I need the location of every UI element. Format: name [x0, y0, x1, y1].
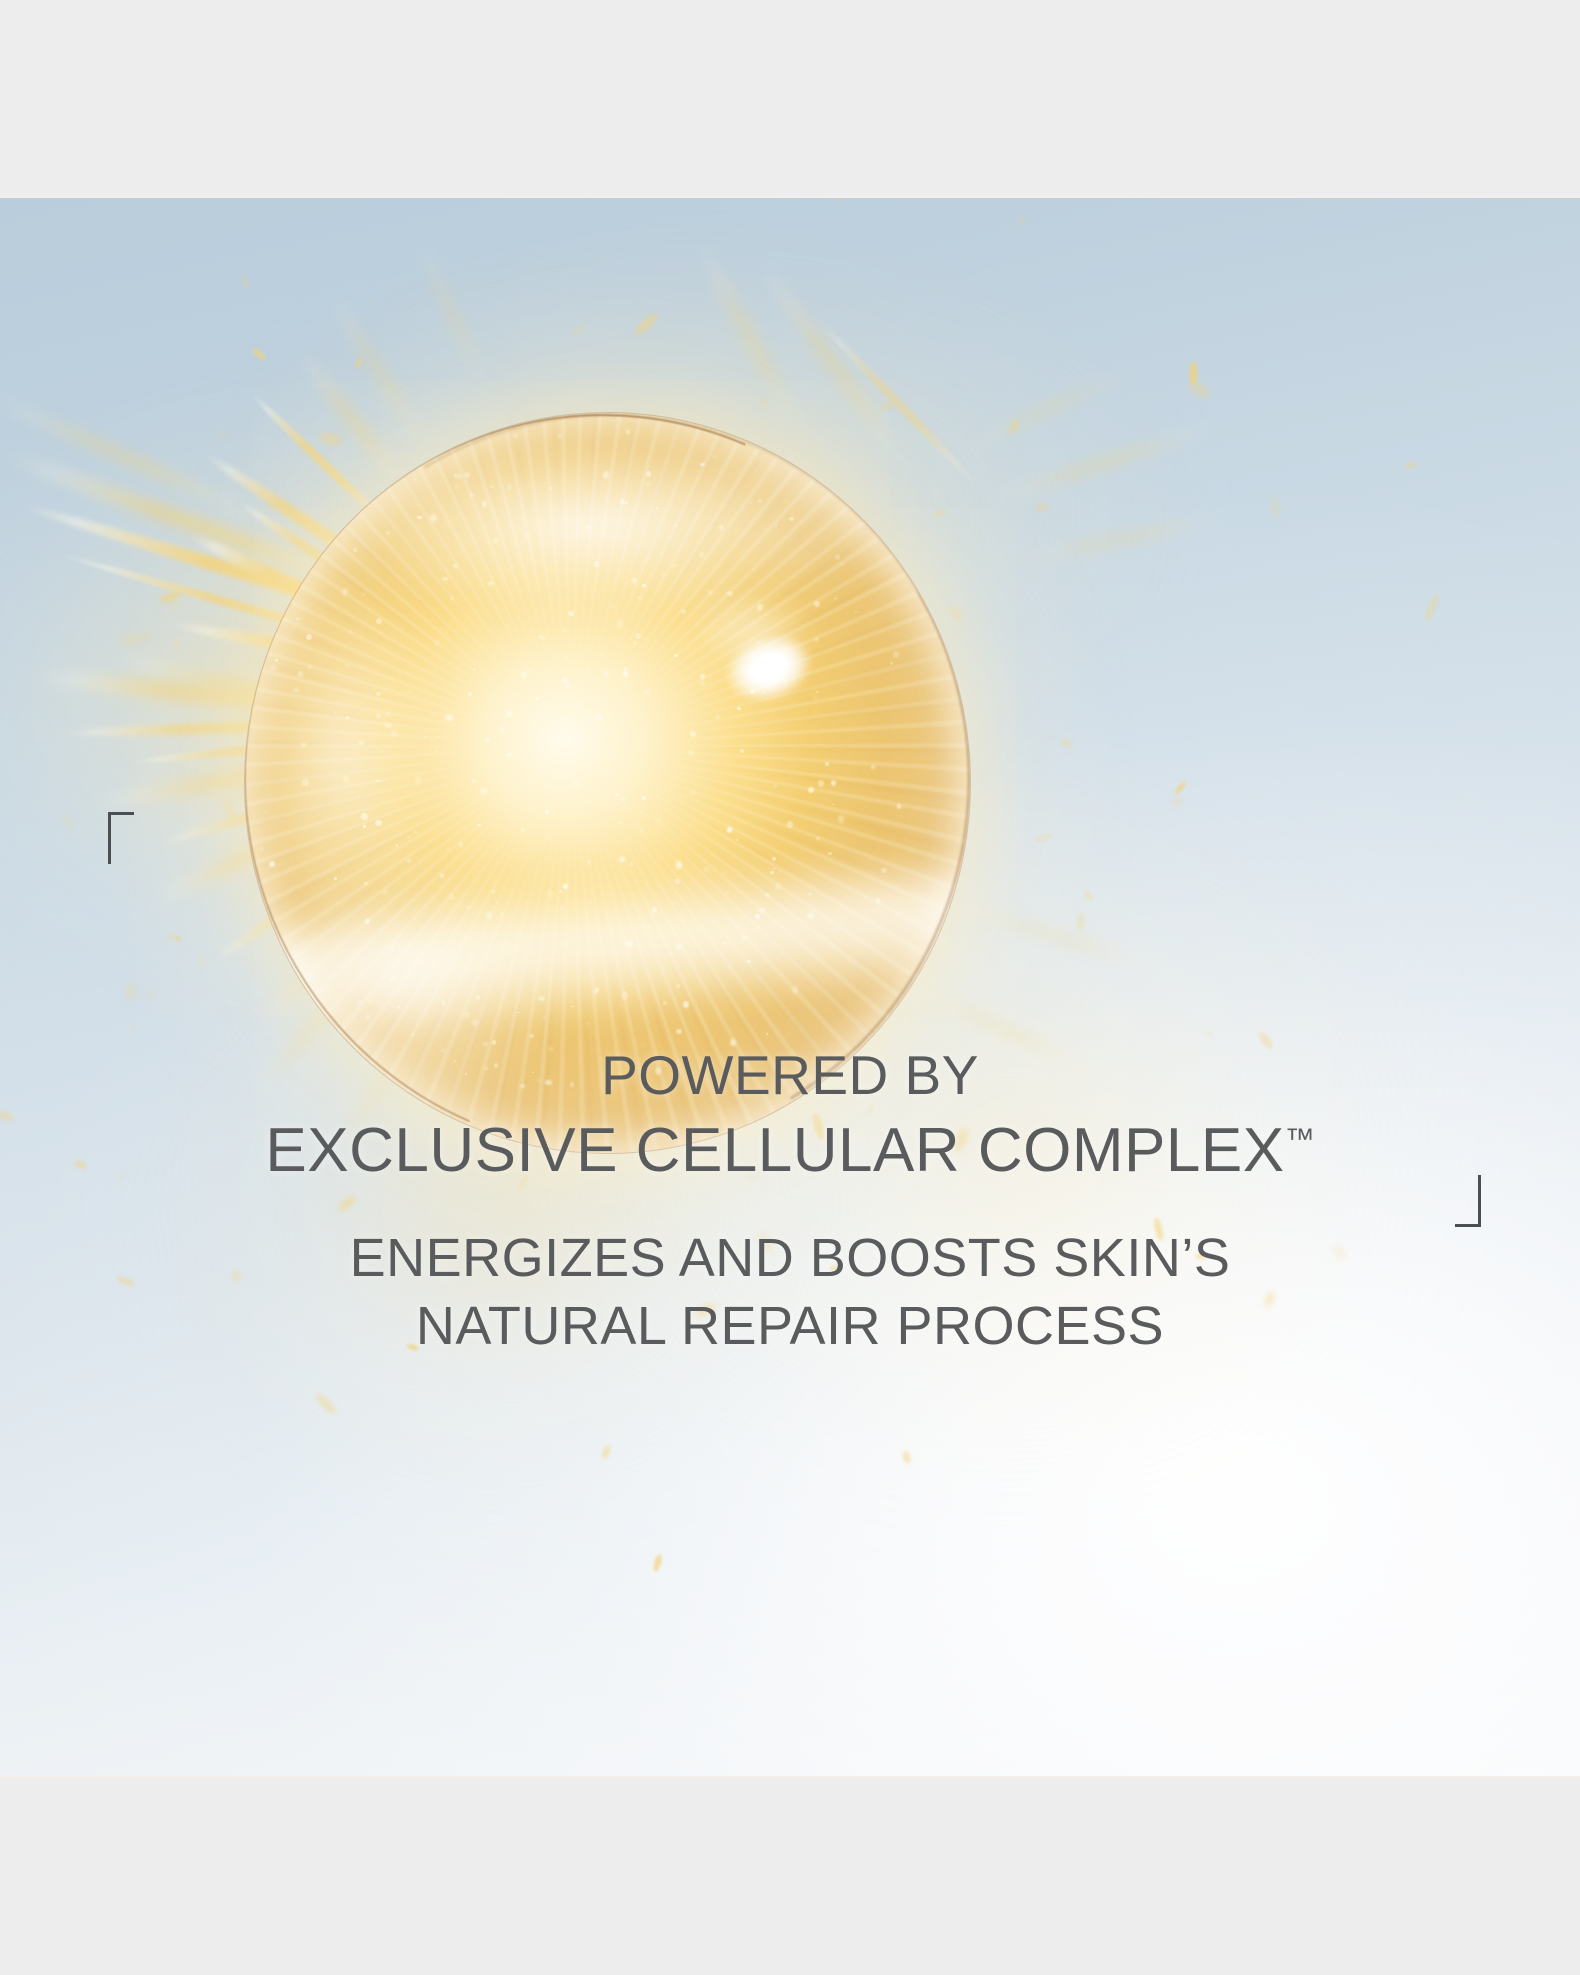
splash-droplet — [167, 603, 180, 609]
splash-droplet — [756, 1231, 776, 1255]
splash-droplet — [832, 198, 843, 200]
splash-droplet — [240, 274, 251, 289]
subhead-line-2: NATURAL REPAIR PROCESS — [0, 1294, 1580, 1358]
splash-droplet — [1403, 460, 1417, 471]
splash-droplet — [1008, 418, 1019, 435]
letterbox-bottom — [0, 1778, 1580, 1975]
subhead-line-1: ENERGIZES AND BOOSTS SKIN’S — [0, 1226, 1580, 1290]
splash-streak — [695, 241, 808, 440]
splash-droplet — [515, 1174, 530, 1192]
corner-bracket-top-left — [108, 812, 134, 864]
splash-droplet — [570, 324, 587, 336]
splash-streak — [1009, 510, 1236, 567]
splash-droplet — [1188, 379, 1212, 400]
splash-droplet — [126, 984, 135, 1001]
splash-droplet — [1060, 738, 1073, 748]
splash-droplet — [1152, 1217, 1164, 1242]
splash-droplet — [116, 1172, 124, 1182]
splash-streak — [0, 393, 266, 522]
splash-droplet — [1205, 1031, 1214, 1037]
splash-streak — [417, 240, 488, 389]
splash-droplet — [1189, 361, 1197, 384]
splash-droplet — [173, 935, 182, 942]
corner-bracket-bottom-right — [1455, 1175, 1481, 1227]
splash-droplet — [406, 1343, 419, 1351]
splash-droplet — [1256, 1030, 1275, 1051]
splash-droplet — [130, 1025, 138, 1031]
golden-serum-sphere — [245, 413, 970, 1153]
splash-droplet — [1466, 834, 1471, 838]
splash-droplet — [1077, 912, 1084, 929]
splash-droplet — [368, 299, 376, 306]
splash-droplet — [233, 1270, 238, 1281]
light-rays-warm — [245, 413, 970, 1153]
splash-droplet — [1331, 1243, 1347, 1261]
splash-droplet — [116, 1274, 136, 1287]
splash-droplet — [693, 1303, 717, 1318]
splash-droplet — [748, 1171, 757, 1180]
splash-droplet — [1194, 1253, 1206, 1260]
splash-droplet — [829, 1265, 839, 1271]
splash-streak — [958, 361, 1141, 456]
splash-droplet — [902, 1451, 911, 1465]
splash-droplet — [313, 1391, 338, 1416]
splash-droplet — [354, 357, 364, 370]
splash-droplet — [1174, 795, 1180, 807]
splash-droplet — [63, 813, 74, 829]
splash-streak — [939, 898, 1172, 973]
splash-droplet — [1035, 504, 1049, 510]
splash-droplet — [143, 454, 150, 461]
splash-droplet — [217, 433, 226, 442]
letterbox-top — [0, 0, 1580, 198]
splash-streak — [978, 418, 1228, 508]
splash-droplet — [173, 638, 180, 651]
splash-droplet — [1270, 496, 1280, 519]
splash-droplet — [633, 312, 660, 338]
splash-droplet — [1264, 1291, 1274, 1308]
splash-droplet — [145, 992, 157, 997]
page-root: POWERED BY EXCLUSIVE CELLULAR COMPLEX™ E… — [0, 0, 1580, 1975]
splash-droplet — [1174, 780, 1188, 795]
splash-droplet — [222, 797, 238, 823]
splash-droplet — [159, 591, 182, 604]
splash-droplet — [337, 1193, 358, 1212]
splash-droplet — [118, 631, 151, 646]
splash-droplet — [1033, 832, 1055, 844]
splash-droplet — [167, 932, 175, 942]
splash-droplet — [251, 347, 267, 362]
splash-droplet — [762, 398, 766, 408]
hero-image: POWERED BY EXCLUSIVE CELLULAR COMPLEX™ E… — [0, 198, 1580, 1778]
splash-droplet — [976, 532, 979, 538]
splash-droplet — [602, 1444, 612, 1459]
splash-droplet — [880, 401, 893, 410]
trademark-symbol: ™ — [1285, 1123, 1315, 1156]
splash-droplet — [1083, 889, 1094, 901]
splash-droplet — [1422, 593, 1441, 623]
splash-droplet — [73, 1160, 86, 1170]
splash-droplet — [199, 956, 205, 964]
splash-droplet — [0, 1109, 14, 1123]
splash-droplet — [1019, 217, 1024, 225]
splash-droplet — [652, 1554, 664, 1573]
